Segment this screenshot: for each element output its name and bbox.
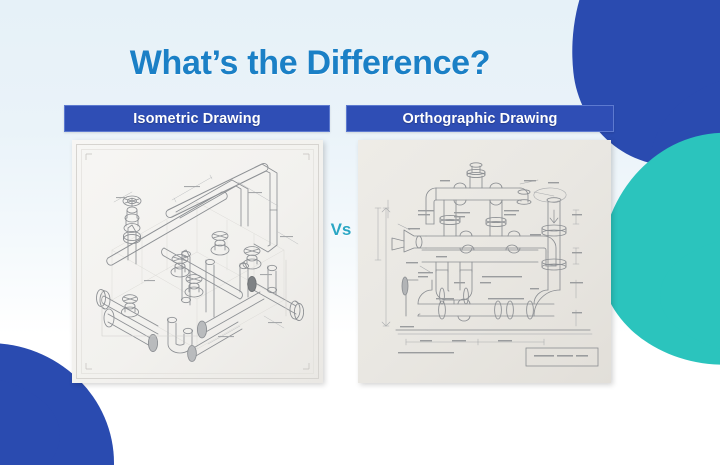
versus-separator: Vs — [323, 220, 359, 240]
isometric-piping-illustration — [72, 140, 323, 383]
label-isometric-drawing: Isometric Drawing — [64, 105, 330, 132]
label-isometric-text: Isometric Drawing — [133, 111, 260, 127]
label-orthographic-drawing: Orthographic Drawing — [346, 105, 614, 132]
page-title: What’s the Difference? — [0, 44, 620, 83]
orthographic-piping-illustration — [358, 140, 611, 383]
image-isometric-drawing — [72, 140, 323, 383]
slide-canvas: What’s the Difference? Isometric Drawing… — [0, 0, 720, 465]
image-orthographic-drawing — [358, 140, 611, 383]
label-orthographic-text: Orthographic Drawing — [402, 111, 557, 127]
